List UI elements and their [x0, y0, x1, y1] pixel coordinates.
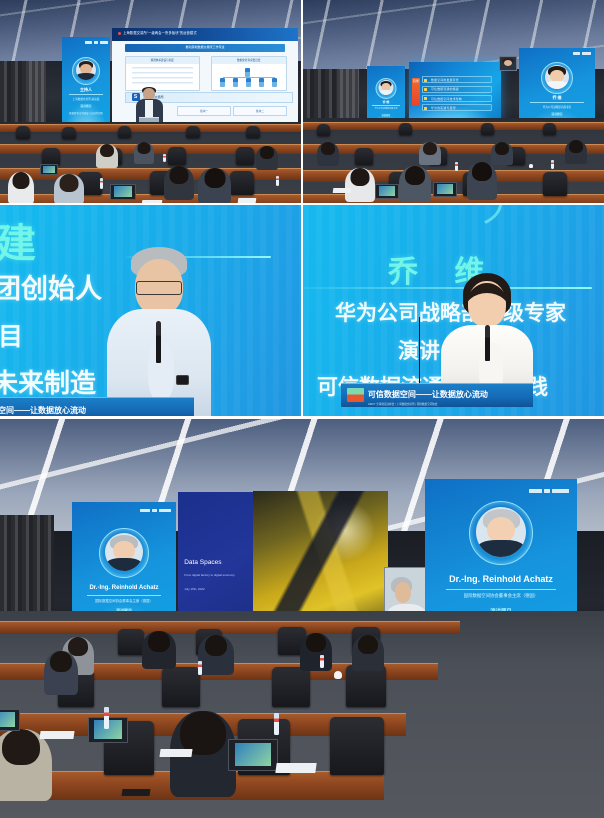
laptop-screen	[379, 186, 396, 196]
podium-banner-text: 可信数据空间——让数据放心流动	[368, 389, 488, 400]
org-connector	[223, 77, 275, 78]
speaker-portrait	[76, 60, 96, 80]
attendee	[198, 635, 234, 675]
speaker-name: 乔 维	[519, 95, 595, 101]
attendee-head	[50, 651, 72, 672]
slide-button-2: 板块二	[233, 106, 287, 117]
chair	[118, 126, 131, 138]
microphone	[156, 321, 161, 363]
laptop-screen	[43, 166, 55, 173]
attendee-head	[204, 168, 225, 188]
gmct-logo-icon	[140, 509, 150, 512]
chair	[355, 148, 373, 165]
chair	[118, 629, 144, 655]
org-node-1	[220, 78, 225, 87]
chair	[272, 667, 310, 707]
speaker-topic: 数据要素市场建设与交易所实践	[62, 111, 110, 115]
bullet-text: 可信数据空间技术架构	[431, 97, 462, 101]
topic-label: 演讲题目	[519, 112, 595, 116]
water-bottle	[198, 661, 202, 675]
screen-text-line-1: 建	[0, 211, 36, 269]
attendee	[44, 651, 78, 695]
panel-hall-wide-shot-bottom: Dr.-Ing. Reinhold Achatz 国际数据空间协会董事会主席（德…	[0, 419, 604, 818]
water-bottle	[163, 154, 166, 162]
attendee	[467, 162, 497, 200]
panel-auditorium-wide-shot-left: 主持人 上海数据交易所 副总裁 演讲题目 数据要素市场建设与交易所实践 上海数据…	[0, 0, 301, 203]
slide-section-header: 推动落地数据交易所工作专班	[125, 44, 285, 52]
slide-button-2-label: 板块二	[234, 107, 286, 118]
attendee-head	[423, 142, 437, 155]
paper-sheet	[238, 198, 257, 203]
chair	[543, 123, 556, 135]
water-bottle	[104, 707, 109, 729]
speaker-affiliation: 国际数据空间协会董事会主席（德国）	[425, 593, 577, 599]
portrait-suit	[379, 90, 393, 95]
attendee	[134, 142, 154, 164]
speaker-id-card-left: 主持人 上海数据交易所 副总裁 演讲题目 数据要素市场建设与交易所实践	[62, 37, 110, 125]
attendee-foreground	[0, 729, 52, 801]
speaker-name: 主持人	[62, 87, 110, 93]
attendee	[317, 142, 339, 166]
podium-banner-text: 空间——让数据放心流动	[0, 405, 86, 416]
topic-label: 演讲题目	[367, 113, 405, 117]
laptop-screen	[114, 186, 132, 197]
bullet-marker-icon	[424, 79, 427, 82]
attendee-head	[351, 168, 370, 186]
water-bottle	[455, 162, 458, 171]
water-bottle	[274, 713, 279, 735]
host-logo-icon	[100, 41, 108, 44]
screen-text-line-3: 目	[0, 317, 23, 353]
paper-sheet	[39, 731, 74, 739]
section-header-text: 推动落地数据交易所工作专班	[125, 44, 285, 51]
panel-speaker-closeup-left: 建 团创始人 目 未来制造 空间——让数据放心流动	[0, 205, 301, 416]
talks-gmct-logo-icon	[347, 388, 364, 402]
laptop	[433, 182, 457, 197]
laptop-screen	[437, 184, 454, 194]
divider	[372, 105, 399, 106]
chair	[168, 147, 186, 165]
bullet-item: 可信数据流通的挑战	[422, 86, 492, 93]
screen-corner-logos	[85, 41, 108, 44]
paper-sheet	[159, 749, 192, 757]
audience-area	[303, 118, 604, 203]
podium-banner: 空间——让数据放心流动	[0, 397, 194, 416]
attendee-head	[495, 142, 509, 155]
cup	[334, 671, 342, 679]
remote-video-inset	[499, 56, 517, 71]
chair	[42, 148, 60, 165]
chair	[162, 667, 200, 707]
portrait-suit	[478, 540, 524, 557]
presenter-shirt	[145, 100, 153, 118]
water-bottle	[276, 176, 279, 186]
portrait-suit	[77, 73, 95, 80]
attendee	[345, 168, 375, 202]
org-node-4	[259, 78, 264, 87]
desk-row-4	[303, 122, 604, 130]
attendee-head	[569, 140, 583, 153]
portrait-suit	[546, 81, 568, 89]
video-face	[504, 60, 513, 67]
attendee	[142, 631, 176, 669]
chair	[317, 124, 330, 136]
paper-sheet	[142, 200, 163, 203]
attendee	[565, 140, 587, 164]
speaker-arm	[148, 341, 174, 401]
chair	[346, 665, 386, 707]
slide-title: Data Spaces	[184, 559, 221, 566]
divider	[530, 102, 585, 103]
attendee-head	[472, 162, 492, 181]
panel-auditorium-wide-shot-right: 乔 维 华为公司战略部高级专家 演讲题目 可信数据流通的华为实践 目录 数据空间…	[303, 0, 604, 203]
attendee-head	[306, 633, 326, 652]
desk-row-4	[0, 621, 460, 634]
panel-speaker-closeup-right: 乔 维 华为公司战略部高级专家 演讲 可信数据流通的华为实践 可信数据空间——让…	[303, 205, 604, 416]
chair	[399, 123, 412, 135]
attendee-head	[205, 635, 227, 656]
org-node-3	[246, 78, 251, 87]
speaker-name: 乔 维	[367, 100, 405, 104]
attendee-head	[2, 729, 40, 765]
chair	[246, 126, 260, 138]
speaker-portrait	[545, 65, 569, 89]
paper-sheet	[333, 188, 352, 193]
attendee	[352, 635, 384, 671]
org-node-5	[272, 78, 277, 87]
org-node-2	[233, 78, 238, 87]
box-title-committee: 数据交易专家委员会	[212, 57, 286, 64]
screen-corner-logos	[529, 489, 569, 493]
attendee-head	[260, 146, 274, 159]
paper-sheet	[275, 763, 316, 773]
laptop-screen	[0, 712, 15, 727]
gmct-logo-icon	[573, 52, 580, 55]
attendee	[164, 166, 194, 200]
gmct-logo-icon	[529, 489, 542, 493]
laptop-foreground[interactable]	[228, 739, 278, 771]
water-bottle	[100, 178, 103, 189]
portrait-suit	[107, 558, 142, 571]
attendee-head	[68, 637, 88, 656]
attendee-head	[100, 144, 114, 157]
water-bottle	[320, 655, 324, 668]
screen-text-line-4: 未来制造	[0, 363, 96, 400]
slide-subtitle: From digital factory to digital economy	[184, 573, 235, 577]
presentation-slide: 上海数据交易所“一级两会一所多板块”的运营模式 推动落地数据交易所工作专班 规则…	[112, 28, 298, 125]
laptop	[40, 164, 58, 175]
attendee-head	[13, 172, 30, 189]
divider	[446, 589, 555, 590]
bullet-text: 可信数据流通的挑战	[431, 87, 459, 91]
laptop	[110, 184, 136, 200]
speaker-name: Dr.-Ing. Reinhold Achatz	[425, 574, 577, 584]
bullet-item: 数据空间的发展背景	[422, 76, 492, 83]
live-presenter-inset	[125, 80, 173, 125]
city-logo-icon	[94, 41, 98, 44]
attendee-head	[138, 142, 151, 154]
attendee-head	[60, 174, 79, 192]
chair	[16, 126, 30, 139]
chair	[186, 126, 200, 138]
attendee-head	[148, 631, 170, 652]
city-logo-icon	[544, 489, 550, 493]
podium-banner: 可信数据空间——让数据放心流动 GMCT 全球制造业峰会 | 上海数据交易所 |…	[341, 383, 533, 407]
slide-date: July 15th, 2022	[184, 587, 204, 591]
speaker-glasses	[136, 281, 182, 295]
wave-decoration	[62, 95, 110, 125]
screen-text-line-2: 团创始人	[0, 267, 102, 306]
speaker-name: Dr.-Ing. Reinhold Achatz	[72, 585, 176, 591]
chair	[481, 123, 494, 135]
ids-association-logo-icon	[552, 489, 569, 493]
cup	[529, 164, 533, 168]
attendee	[198, 168, 231, 203]
attendee	[54, 174, 84, 203]
smartphone[interactable]	[122, 789, 151, 796]
attendee-head	[180, 711, 226, 755]
laptop-screen	[235, 743, 272, 766]
attendee-head	[321, 142, 335, 155]
bullet-marker-icon	[424, 88, 427, 91]
speaker-portrait	[476, 507, 526, 557]
photo-collage: 主持人 上海数据交易所 副总裁 演讲题目 数据要素市场建设与交易所实践 上海数据…	[0, 0, 604, 818]
audience-area	[0, 611, 604, 818]
slide-button-1: 板块一	[177, 106, 231, 117]
video-face	[395, 582, 411, 603]
attendee	[96, 144, 118, 168]
bullet-marker-icon	[424, 97, 427, 100]
speaker-portrait	[379, 80, 394, 95]
attendee	[8, 172, 34, 203]
desk-row-3	[303, 144, 604, 154]
slide-button-1-label: 板块一	[178, 107, 230, 118]
attendee	[419, 142, 441, 165]
chair	[236, 147, 254, 165]
slide-headline: 上海数据交易所“一级两会一所多板块”的运营模式	[123, 30, 197, 35]
screen-corner-logos	[140, 509, 171, 512]
city-logo-icon	[152, 509, 157, 512]
laptop[interactable]	[0, 709, 20, 731]
attendee	[491, 142, 513, 165]
attendee-head	[358, 635, 378, 654]
gmct-logo-icon	[85, 41, 92, 44]
chair	[330, 717, 384, 775]
topic-label: 演讲题目	[62, 104, 110, 108]
box-title-rules: 规则体系建设与制定	[126, 57, 199, 64]
ids-association-logo-icon	[159, 509, 171, 512]
microphone	[485, 325, 490, 361]
laptop	[375, 184, 399, 199]
wristwatch	[176, 375, 189, 385]
speaker-portrait	[105, 533, 143, 571]
chair	[543, 172, 567, 196]
water-bottle	[551, 160, 554, 169]
microphone-stand	[419, 317, 420, 391]
host-logo-icon	[582, 52, 591, 55]
bullet-text: 数据空间的发展背景	[431, 78, 459, 82]
attendee-head	[405, 166, 425, 185]
org-chart	[216, 67, 281, 87]
slide-box-committee: 数据交易专家委员会	[211, 56, 287, 91]
chair	[62, 127, 76, 139]
attendee	[399, 166, 431, 202]
audience-area	[0, 122, 301, 203]
screen-corner-logos	[573, 52, 591, 55]
speaker-figure	[104, 247, 214, 416]
attendee	[300, 633, 332, 671]
bullet-slide-screen: 目录 数据空间的发展背景 可信数据流通的挑战 可信数据空间技术架构 华为的实践与…	[409, 62, 501, 122]
podium-sponsors: GMCT 全球制造业峰会 | 上海数据交易所 | 国际数据空间协会	[368, 402, 438, 406]
agenda-tag-label: 目录	[412, 78, 420, 84]
chair	[230, 171, 254, 195]
attendee-head	[170, 166, 189, 184]
attendee	[256, 146, 278, 170]
